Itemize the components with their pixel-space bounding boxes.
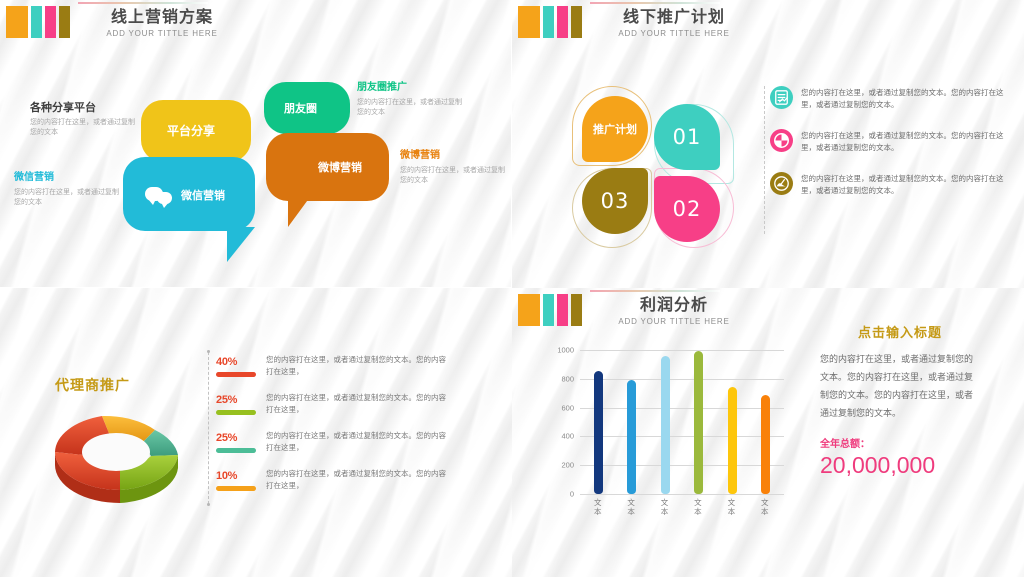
chart-bar [594,371,603,494]
list-item-text: 您的内容打在这里，或者通过复制您的文本。您的内容打在这里， [266,352,446,378]
chart-bar-group: 文本 [627,350,636,494]
bullet-list: 您的内容打在这里，或者通过复制您的文本。您的内容打在这里，或者通过复制您的文本。… [770,86,1010,215]
profit-text-panel: 点击输入标题 您的内容打在这里，或者通过复制您的文本。您的内容打在这里，或者通过… [810,322,990,479]
petal-label: 03 [601,189,630,213]
slide-agent-promotion: 代理推广 ADD YOUR TITTLE HERE 代理商推广 [0,288,512,577]
swatch-orange [518,294,540,326]
bubble-label: 微博营销 [318,159,362,175]
chart-bar-group: 文本 [594,350,603,494]
total-value: 20,000,000 [810,452,990,479]
chart-gridline: 0 [580,494,784,495]
header-swatches [518,6,582,38]
percent-value: 10% [216,470,237,482]
bubble-label: 平台分享 [167,122,215,139]
slide-profit-analysis: 利润分析 ADD YOUR TITTLE HERE 02004006008001… [512,288,1024,577]
swatch-pink [45,6,56,38]
total-label: 全年总额： [810,435,990,450]
caption-body: 您的内容打在这里，或者通过复制您的文本 [30,117,135,137]
document-chart-icon [770,86,793,109]
percent-value: 25% [216,394,237,406]
chart-y-tick: 400 [561,432,574,441]
chart-bar [694,351,703,494]
list-item-text: 您的内容打在这里，或者通过复制您的文本。您的内容打在这里，或者通过复制您的文本。 [801,129,1010,154]
slide-header: 线上营销方案 ADD YOUR TITTLE HERE [0,0,511,50]
list-item[interactable]: 您的内容打在这里，或者通过复制您的文本。您的内容打在这里，或者通过复制您的文本。 [770,86,1010,111]
page-title: 线下推广计划 [584,6,764,28]
caption-title: 微博营销 [400,148,505,163]
page-subtitle: ADD YOUR TITTLE HERE [584,317,764,326]
list-item[interactable]: 25% 您的内容打在这里，或者通过复制您的文本。您的内容打在这里， [216,428,446,454]
petal-label: 02 [673,197,702,221]
caption-title: 各种分享平台 [30,100,135,115]
chart-y-tick: 600 [561,403,574,412]
bubble-label: 微信营销 [181,187,225,203]
header-text: 线上营销方案 ADD YOUR TITTLE HERE [72,1,252,38]
chart-bar [728,387,737,494]
caption-share-platforms: 各种分享平台 您的内容打在这里，或者通过复制您的文本 [30,100,135,137]
chart-bars: 文本文本文本文本文本文本 [594,350,770,494]
caption-body: 您的内容打在这里，或者通过复制您的文本 [14,187,119,207]
swatch-olive [59,6,70,38]
swatch-teal [543,6,554,38]
page-subtitle: ADD YOUR TITTLE HERE [584,29,764,38]
list-item[interactable]: 25% 您的内容打在这里，或者通过复制您的文本。您的内容打在这里， [216,390,446,416]
swatch-olive [571,294,582,326]
swatch-teal [31,6,42,38]
page-subtitle: ADD YOUR TITTLE HERE [72,29,252,38]
bubble-tail-orange [288,197,310,227]
chat-bubbles-icon [145,185,173,205]
list-item-text: 您的内容打在这里，或者通过复制您的文本。您的内容打在这里， [266,466,446,492]
percent-block: 10% [216,466,256,491]
petal-label: 01 [673,125,702,149]
percent-value: 40% [216,356,237,368]
slide-deck: 线上营销方案 ADD YOUR TITTLE HERE 平台分享 朋友圈 微博营… [0,0,1024,577]
chart-x-label: 文本 [594,498,603,516]
chart-y-tick: 800 [561,374,574,383]
petal-02[interactable]: 02 [654,176,720,242]
bubble-wechat-marketing[interactable]: 微信营销 [123,157,255,231]
chart-x-label: 文本 [627,498,636,516]
header-text: 利润分析 ADD YOUR TITTLE HERE [584,289,764,326]
list-item[interactable]: 40% 您的内容打在这里，或者通过复制您的文本。您的内容打在这里， [216,352,446,378]
page-title: 线上营销方案 [72,6,252,28]
percent-block: 25% [216,428,256,453]
list-item-text: 您的内容打在这里，或者通过复制您的文本。您的内容打在这里， [266,390,446,416]
list-item-text: 您的内容打在这里，或者通过复制您的文本。您的内容打在这里， [266,428,446,454]
vertical-divider [764,86,765,234]
chart-plot-area: 02004006008001000 文本文本文本文本文本文本 [580,350,784,494]
header-swatches [518,294,582,326]
donut-chart-title: 代理商推广 [55,375,130,395]
chart-bar [661,356,670,494]
list-item-text: 您的内容打在这里，或者通过复制您的文本。您的内容打在这里，或者通过复制您的文本。 [801,86,1010,111]
caption-title: 微信营销 [14,170,119,185]
pie-chart-icon [770,129,793,152]
chart-bar [761,395,770,494]
swatch-olive [571,6,582,38]
chart-bar-group: 文本 [694,350,703,494]
percent-bar [216,410,256,415]
chart-x-label: 文本 [728,498,737,516]
slide-online-marketing: 线上营销方案 ADD YOUR TITTLE HERE 平台分享 朋友圈 微博营… [0,0,512,288]
chart-x-label: 文本 [761,498,770,516]
swatch-teal [543,294,554,326]
list-item[interactable]: 您的内容打在这里，或者通过复制您的文本。您的内容打在这里，或者通过复制您的文本。 [770,129,1010,154]
chart-y-tick: 200 [561,461,574,470]
bubble-tail-cyan [227,227,255,262]
chart-y-tick: 0 [570,490,574,499]
list-divider [208,352,209,504]
caption-weibo: 微博营销 您的内容打在这里，或者通过复制您的文本 [400,148,505,185]
slide-offline-promotion: 线下推广计划 ADD YOUR TITTLE HERE 推广计划 01 03 0… [512,0,1024,288]
caption-wechat: 微信营销 您的内容打在这里，或者通过复制您的文本 [14,170,119,207]
chart-y-tick: 1000 [557,346,574,355]
percent-bar [216,486,256,491]
petal-03[interactable]: 03 [582,168,648,234]
list-item[interactable]: 您的内容打在这里，或者通过复制您的文本。您的内容打在这里，或者通过复制您的文本。 [770,172,1010,197]
percent-value: 25% [216,432,237,444]
petal-diagram: 推广计划 01 03 02 [560,82,750,242]
chart-bar-group: 文本 [661,350,670,494]
panel-body: 您的内容打在这里，或者通过复制您的文本。您的内容打在这里，或者通过复制您的文本。… [810,351,990,423]
caption-body: 您的内容打在这里，或者通过复制您的文本 [400,165,505,185]
header-swatches [6,6,70,38]
petal-01[interactable]: 01 [654,104,720,170]
percent-block: 40% [216,352,256,377]
chart-bar-group: 文本 [728,350,737,494]
chart-x-label: 文本 [661,498,670,516]
slide-header: 线下推广计划 ADD YOUR TITTLE HERE [512,0,1024,50]
chart-x-label: 文本 [694,498,703,516]
bar-chart: 02004006008001000 文本文本文本文本文本文本 [542,344,792,524]
petal-plan[interactable]: 推广计划 [582,96,648,162]
bubble-platform-share[interactable]: 平台分享 [141,100,251,162]
caption-moments: 朋友圈推广 您的内容打在这里，或者通过复制您的文本 [357,80,462,117]
donut-chart [45,410,195,520]
chart-bar [627,380,636,494]
petal-label: 推广计划 [593,121,637,137]
caption-title: 朋友圈推广 [357,80,462,95]
bubble-moments[interactable]: 朋友圈 [264,82,350,134]
list-item[interactable]: 10% 您的内容打在这里，或者通过复制您的文本。您的内容打在这里， [216,466,446,492]
percent-bar [216,372,256,377]
swatch-orange [518,6,540,38]
bubble-label: 朋友圈 [284,100,317,116]
list-item-text: 您的内容打在这里，或者通过复制您的文本。您的内容打在这里，或者通过复制您的文本。 [801,172,1010,197]
percent-bar [216,448,256,453]
header-text: 线下推广计划 ADD YOUR TITTLE HERE [584,1,764,38]
gauge-chart-icon [770,172,793,195]
percent-block: 25% [216,390,256,415]
page-title: 利润分析 [584,294,764,316]
caption-body: 您的内容打在这里，或者通过复制您的文本 [357,97,462,117]
chart-bar-group: 文本 [761,350,770,494]
bubble-weibo-marketing[interactable]: 微博营销 [266,133,389,201]
slide-header: 利润分析 ADD YOUR TITTLE HERE [512,288,1024,338]
swatch-pink [557,294,568,326]
swatch-pink [557,6,568,38]
swatch-orange [6,6,28,38]
percent-list: 40% 您的内容打在这里，或者通过复制您的文本。您的内容打在这里， 25% 您的… [216,352,446,504]
